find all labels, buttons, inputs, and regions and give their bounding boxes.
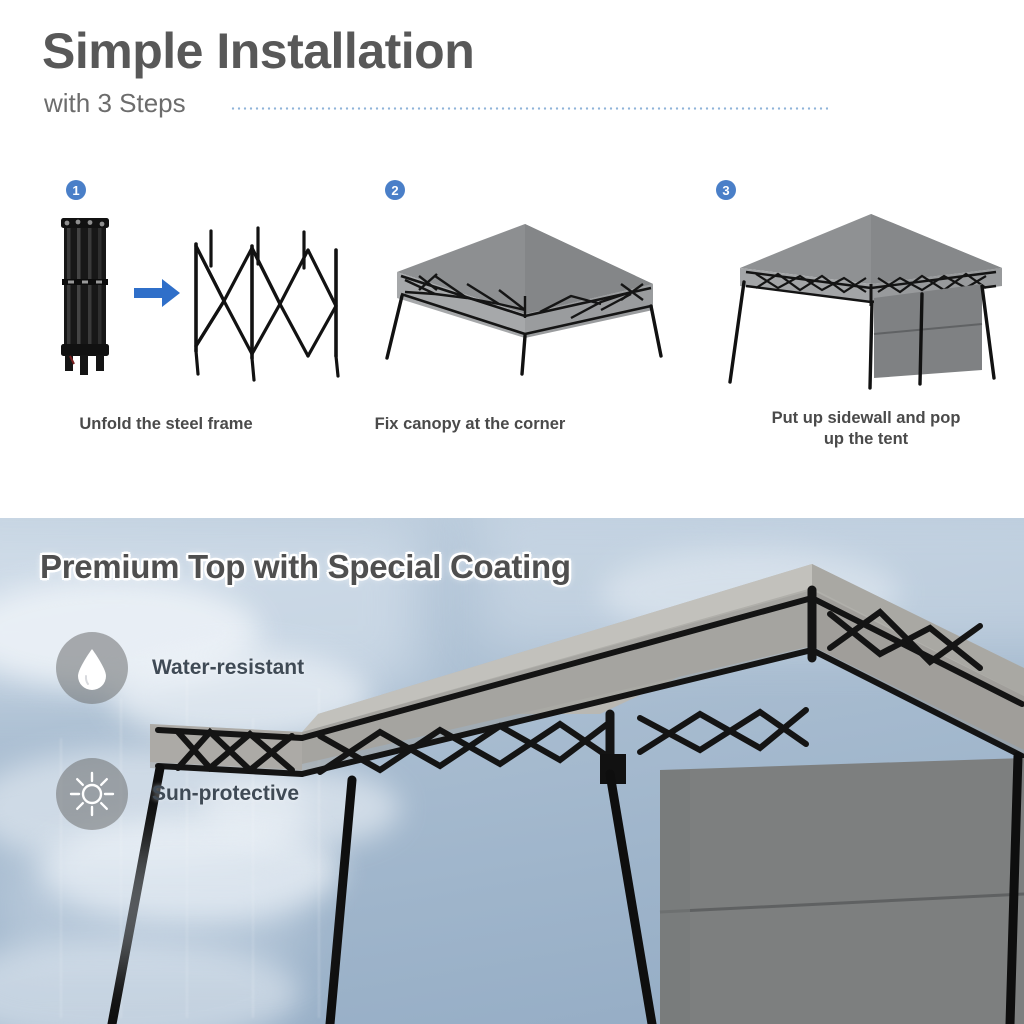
step-1-illustration [46,206,356,401]
feature-water-resistant: Water-resistant [56,632,304,704]
dotted-divider [230,107,828,110]
folded-frame-icon [61,218,109,375]
canopy-top-icon [397,224,653,338]
step-number-badge-3: 3 [716,180,736,200]
photo-section-title: Premium Top with Special Coating [40,548,571,586]
step-3-illustration [726,206,1016,401]
sun-icon [56,758,128,830]
step-number-badge-2: 2 [385,180,405,200]
step-1-caption: Unfold the steel frame [0,414,341,435]
page-title: Simple Installation [42,22,474,80]
step-2-caption: Fix canopy at the corner [300,414,640,435]
page-subtitle: with 3 Steps [44,88,186,119]
step-number-badge-1: 1 [66,180,86,200]
installation-section: Simple Installation with 3 Steps 1 [0,0,1024,518]
large-sidewall [660,758,1024,1024]
step-3-caption: Put up sidewall and pop up the tent [741,408,991,451]
step-2-illustration [375,206,675,386]
product-infographic: Simple Installation with 3 Steps 1 [0,0,1024,1024]
tent-sidewall-icon [874,284,982,378]
water-drop-icon [56,632,128,704]
feature-sun-protective: Sun-protective [56,758,299,830]
expanded-frame-icon [196,228,338,380]
feature-sun-protective-label: Sun-protective [152,782,299,806]
feature-water-resistant-label: Water-resistant [152,656,304,680]
arrow-icon [134,279,180,307]
